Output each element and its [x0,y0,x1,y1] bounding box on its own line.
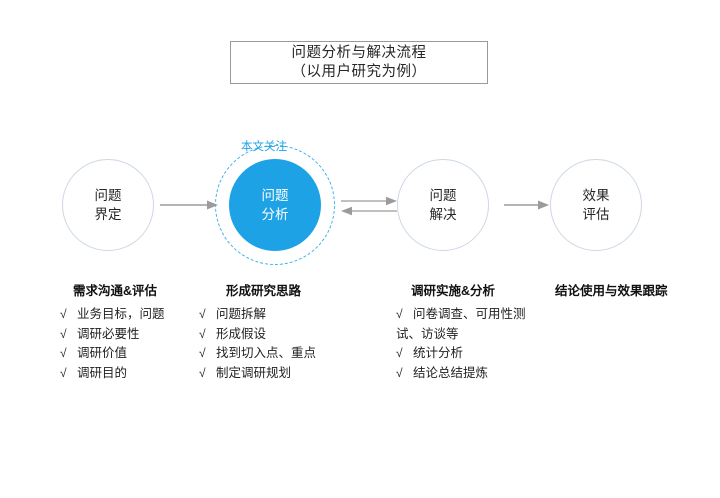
check-icon: √ [199,364,216,384]
list-item: √制定调研规划 [199,364,355,384]
check-icon: √ [199,325,216,345]
check-icon: √ [199,344,216,364]
list-item-label: 形成假设 [216,327,266,341]
list-item: √调研必要性 [60,325,210,345]
arrow-single-right-1 [160,193,220,217]
arrow-single-right-2 [504,193,550,217]
column-heading: 需求沟通&评估 [60,283,210,300]
flow-node-problem-analysis[interactable]: 问题 分析 [229,159,321,251]
column-heading: 形成研究思路 [195,283,355,300]
stage-column-1: 需求沟通&评估 √业务目标，问题 √调研必要性 √调研价值 √调研目的 [60,283,210,383]
column-heading: 结论使用与效果跟踪 [555,283,695,300]
list-item-label: 调研必要性 [77,327,140,341]
list-item: √形成假设 [199,325,355,345]
list-item-label: 制定调研规划 [216,366,291,380]
list-item-label: 结论总结提炼 [413,366,488,380]
check-icon: √ [60,364,77,384]
page-title-line-1: 问题分析与解决流程 [292,44,427,63]
check-icon: √ [396,364,413,384]
flow-node-label-line1: 问题 [95,186,122,205]
check-icon: √ [396,305,413,325]
stage-column-2: 形成研究思路 √问题拆解 √形成假设 √找到切入点、重点 √制定调研规划 [195,283,355,383]
arrow-bidirectional [339,192,399,220]
check-icon: √ [60,305,77,325]
stage-column-3: 调研实施&分析 √问卷调查、可用性测试、访谈等 √统计分析 √结论总结提炼 [396,283,531,383]
flow-node-label-line1: 效果 [583,186,610,205]
flow-node-label-line2: 分析 [262,205,289,224]
column-item-list: √问卷调查、可用性测试、访谈等 √统计分析 √结论总结提炼 [396,305,531,383]
list-item-label: 问卷调查、可用性测试、访谈等 [396,307,526,341]
flow-node-label-line2: 评估 [583,205,610,224]
list-item: √问题拆解 [199,305,355,325]
column-item-list: √业务目标，问题 √调研必要性 √调研价值 √调研目的 [60,305,210,383]
column-heading: 调研实施&分析 [396,283,531,300]
stage-column-4: 结论使用与效果跟踪 [555,283,695,305]
list-item: √找到切入点、重点 [199,344,355,364]
flow-node-label-line2: 界定 [95,205,122,224]
flow-node-label-line1: 问题 [262,186,289,205]
column-item-list: √问题拆解 √形成假设 √找到切入点、重点 √制定调研规划 [195,305,355,383]
list-item-label: 问题拆解 [216,307,266,321]
flow-node-label-line2: 解决 [430,205,457,224]
list-item-label: 调研价值 [77,346,127,360]
list-item: √调研目的 [60,364,210,384]
list-item: √问卷调查、可用性测试、访谈等 [396,305,531,344]
list-item-label: 调研目的 [77,366,127,380]
flow-node-problem-definition[interactable]: 问题 界定 [62,159,154,251]
list-item-label: 统计分析 [413,346,463,360]
check-icon: √ [60,325,77,345]
list-item: √结论总结提炼 [396,364,531,384]
focus-annotation-label: 本文关注 [241,141,287,154]
diagram-canvas: 问题分析与解决流程 （以用户研究为例） 问题 界定 问题 分析 本文关注 问题 … [0,0,720,498]
flow-node-effect-evaluation[interactable]: 效果 评估 [550,159,642,251]
page-title-line-2: （以用户研究为例） [292,63,427,82]
flow-node-label-line1: 问题 [430,186,457,205]
list-item: √统计分析 [396,344,531,364]
list-item: √调研价值 [60,344,210,364]
check-icon: √ [199,305,216,325]
diagram-title-box: 问题分析与解决流程 （以用户研究为例） [230,41,488,84]
flow-node-problem-solving[interactable]: 问题 解决 [397,159,489,251]
check-icon: √ [60,344,77,364]
list-item-label: 找到切入点、重点 [216,346,316,360]
check-icon: √ [396,344,413,364]
list-item: √业务目标，问题 [60,305,210,325]
list-item-label: 业务目标，问题 [77,307,165,321]
